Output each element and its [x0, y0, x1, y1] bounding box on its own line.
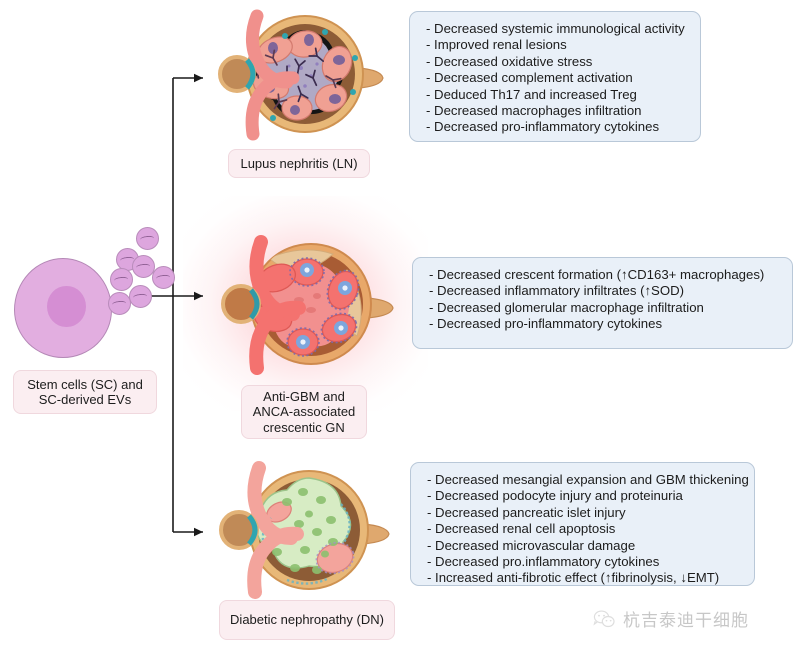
effect-line: - Decreased pancreatic islet injury — [427, 505, 740, 521]
effect-line: - Decreased crescent formation (↑CD163+ … — [429, 267, 778, 283]
effect-line: - Decreased pro-inflammatory cytokines — [429, 316, 778, 332]
label-stem-cells: Stem cells (SC) and SC-derived EVs — [13, 370, 157, 414]
effect-line: - Decreased glomerular macrophage infilt… — [429, 300, 778, 316]
glomerulus-lupus-nephritis — [213, 6, 385, 146]
effect-line: - Decreased pro-inflammatory cytokines — [426, 119, 686, 135]
label-lupus-nephritis: Lupus nephritis (LN) — [228, 149, 370, 178]
effect-line: - Decreased inflammatory infiltrates (↑S… — [429, 283, 778, 299]
stem-cell-nucleus — [47, 286, 85, 327]
effect-line: - Decreased podocyte injury and proteinu… — [427, 488, 740, 504]
watermark-text: 杭吉泰迪干细胞 — [623, 606, 749, 631]
label-line: ANCA-associated — [253, 404, 356, 420]
effect-line: - Decreased oxidative stress — [426, 54, 686, 70]
diagram-canvas: - Decreased systemic immunological activ… — [0, 0, 798, 655]
label-crescentic-gn: Anti-GBM and ANCA-associated crescentic … — [241, 385, 367, 439]
vesicle — [110, 268, 133, 291]
label-diabetic-nephropathy: Diabetic nephropathy (DN) — [219, 600, 395, 640]
effects-box-diabetic-nephropathy: - Decreased mesangial expansion and GBM … — [410, 462, 755, 586]
effect-line: - Decreased complement activation — [426, 70, 686, 86]
effect-line: - Decreased pro.inflammatory cytokines — [427, 554, 740, 570]
effect-line: - Decreased renal cell apoptosis — [427, 521, 740, 537]
stem-cell-illustration — [14, 258, 112, 358]
effect-line: - Decreased microvascular damage — [427, 538, 740, 554]
effect-line: - Decreased mesangial expansion and GBM … — [427, 472, 740, 488]
label-line: Stem cells (SC) and — [27, 377, 143, 393]
effect-line: - Deduced Th17 and increased Treg — [426, 87, 686, 103]
label-line: SC-derived EVs — [27, 392, 143, 408]
vesicle — [152, 266, 175, 289]
effects-box-crescentic-gn: - Decreased crescent formation (↑CD163+ … — [412, 257, 793, 349]
label-line: Anti-GBM and — [253, 389, 356, 405]
effect-line: - Increased anti-fibrotic effect (↑fibri… — [427, 570, 740, 586]
effect-line: - Decreased systemic immunological activ… — [426, 21, 686, 37]
vesicle — [108, 292, 131, 315]
vesicle — [136, 227, 159, 250]
watermark: 杭吉泰迪干细胞 — [592, 606, 749, 631]
effect-line: - Decreased macrophages infiltration — [426, 103, 686, 119]
label-line: Diabetic nephropathy (DN) — [230, 612, 384, 628]
wechat-icon — [592, 609, 616, 629]
label-line: Lupus nephritis (LN) — [240, 156, 357, 172]
effect-line: - Improved renal lesions — [426, 37, 686, 53]
vesicle — [129, 285, 152, 308]
label-line: crescentic GN — [253, 420, 356, 436]
glomerulus-crescentic-gn — [215, 230, 395, 380]
effects-box-lupus-nephritis: - Decreased systemic immunological activ… — [409, 11, 701, 142]
glomerulus-diabetic-nephropathy — [213, 458, 393, 604]
